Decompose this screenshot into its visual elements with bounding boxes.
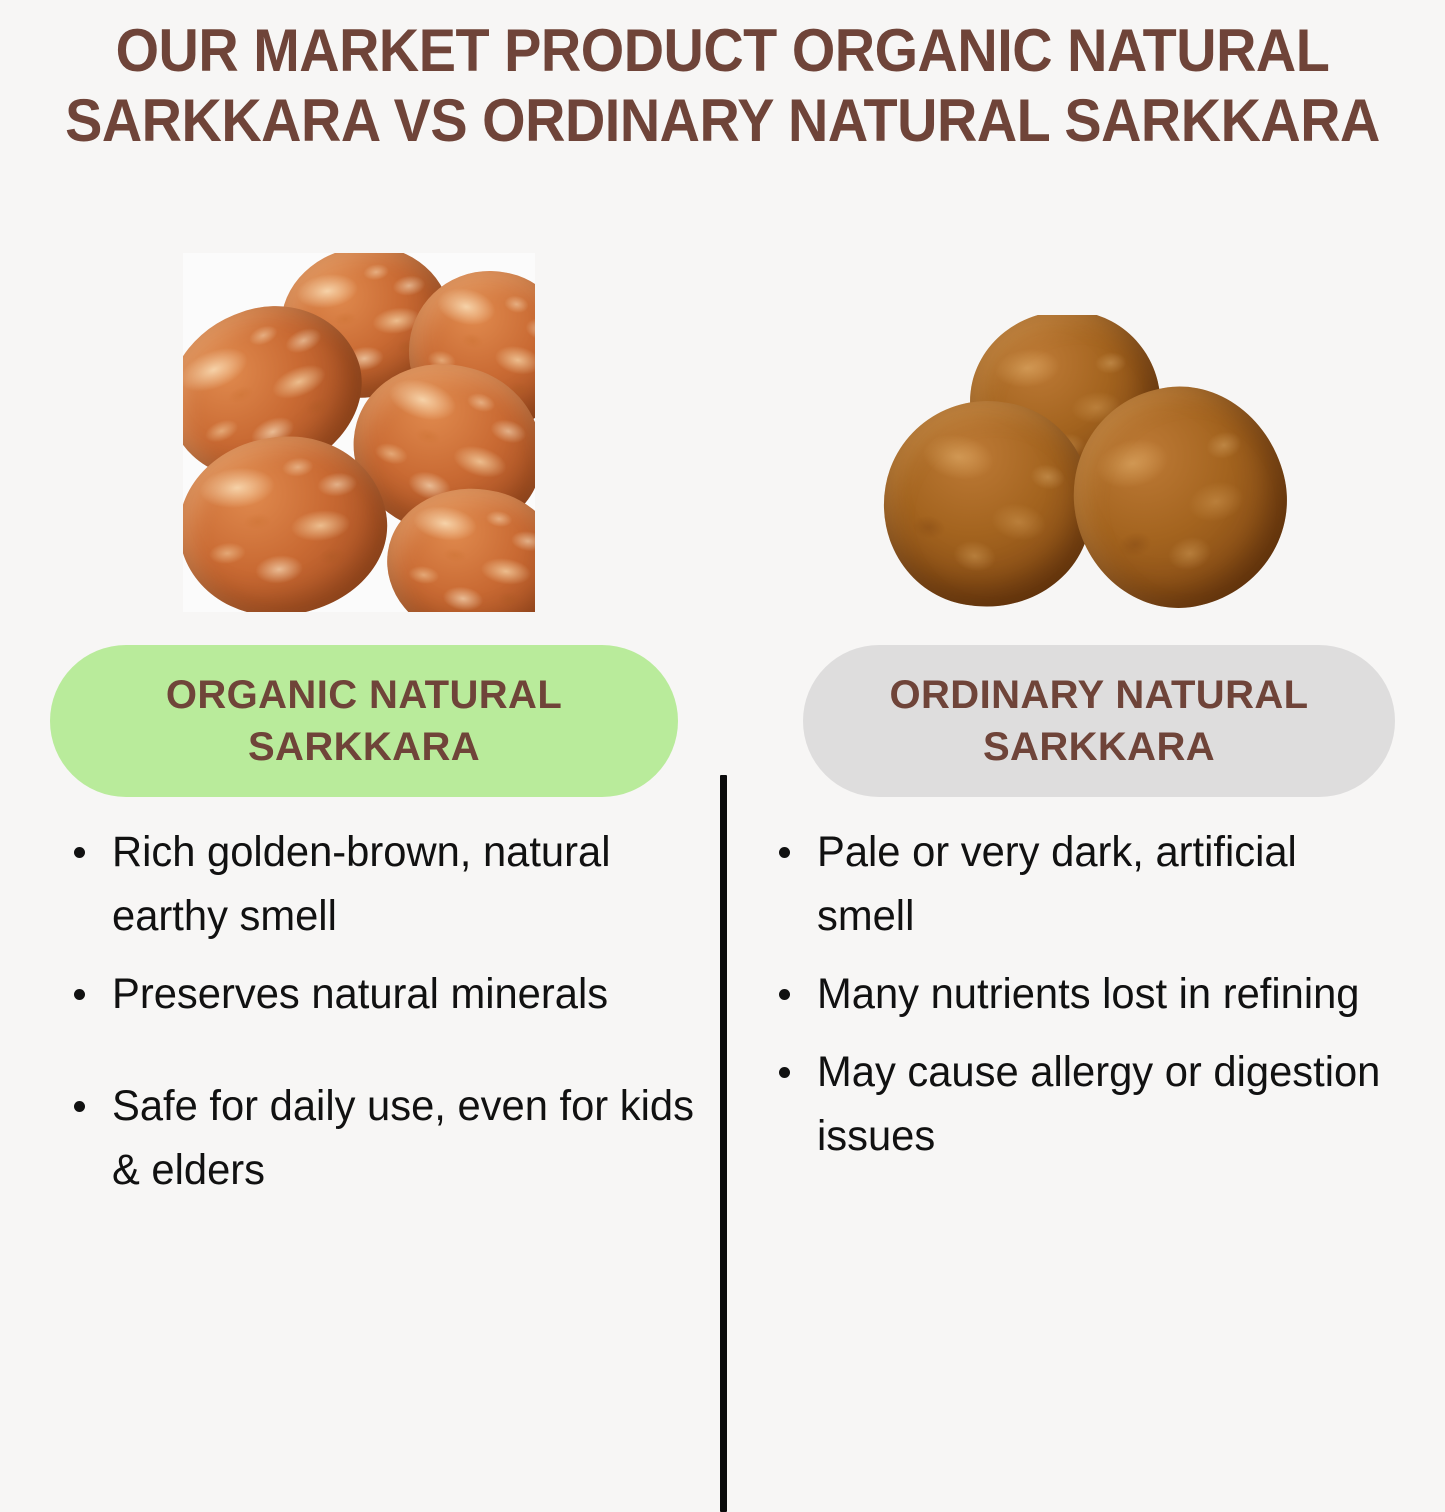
organic-badge-label: ORGANIC NATURAL SARKKARA: [74, 669, 654, 773]
ordinary-product-image: [878, 315, 1298, 615]
organic-badge: ORGANIC NATURAL SARKKARA: [50, 645, 678, 797]
organic-column: ORGANIC NATURAL SARKKARA Rich golden-bro…: [0, 210, 723, 1445]
ordinary-bullet-3: May cause allergy or digestion issues: [817, 1040, 1387, 1168]
page-title-line-1: OUR MARKET PRODUCT ORGANIC NATURAL: [51, 16, 1395, 86]
bullet-dot-icon: [779, 989, 790, 1000]
list-item: Rich golden-brown, natural earthy smell: [60, 820, 720, 948]
page-title-line-2: SARKKARA VS ORDINARY NATURAL SARKKARA: [51, 86, 1395, 156]
list-item: Preserves natural minerals: [60, 962, 720, 1026]
ordinary-bullet-2: Many nutrients lost in refining: [817, 962, 1387, 1026]
bullet-dot-icon: [74, 847, 85, 858]
organic-bullet-2: Preserves natural minerals: [112, 962, 702, 1026]
page-title: OUR MARKET PRODUCT ORGANIC NATURAL SARKK…: [51, 16, 1395, 156]
organic-product-image: [183, 253, 535, 612]
organic-bullet-list: Rich golden-brown, natural earthy smell …: [60, 820, 720, 1216]
bullet-dot-icon: [74, 989, 85, 1000]
comparison-columns: ORGANIC NATURAL SARKKARA Rich golden-bro…: [0, 210, 1445, 1445]
bullet-dot-icon: [779, 1067, 790, 1078]
list-item: May cause allergy or digestion issues: [765, 1040, 1405, 1168]
list-item: Safe for daily use, even for kids & elde…: [60, 1074, 720, 1202]
ordinary-badge-label: ORDINARY NATURAL SARKKARA: [827, 669, 1371, 773]
list-item: Pale or very dark, artificial smell: [765, 820, 1405, 948]
ordinary-column: ORDINARY NATURAL SARKKARA Pale or very d…: [723, 210, 1445, 1445]
organic-bullet-1: Rich golden-brown, natural earthy smell: [112, 820, 702, 948]
organic-bullet-3: Safe for daily use, even for kids & elde…: [112, 1074, 702, 1202]
ordinary-badge: ORDINARY NATURAL SARKKARA: [803, 645, 1395, 797]
ordinary-bullet-list: Pale or very dark, artificial smell Many…: [765, 820, 1405, 1182]
ordinary-bullet-1: Pale or very dark, artificial smell: [817, 820, 1387, 948]
bullet-dot-icon: [74, 1101, 85, 1112]
bullet-dot-icon: [779, 847, 790, 858]
list-item: Many nutrients lost in refining: [765, 962, 1405, 1026]
